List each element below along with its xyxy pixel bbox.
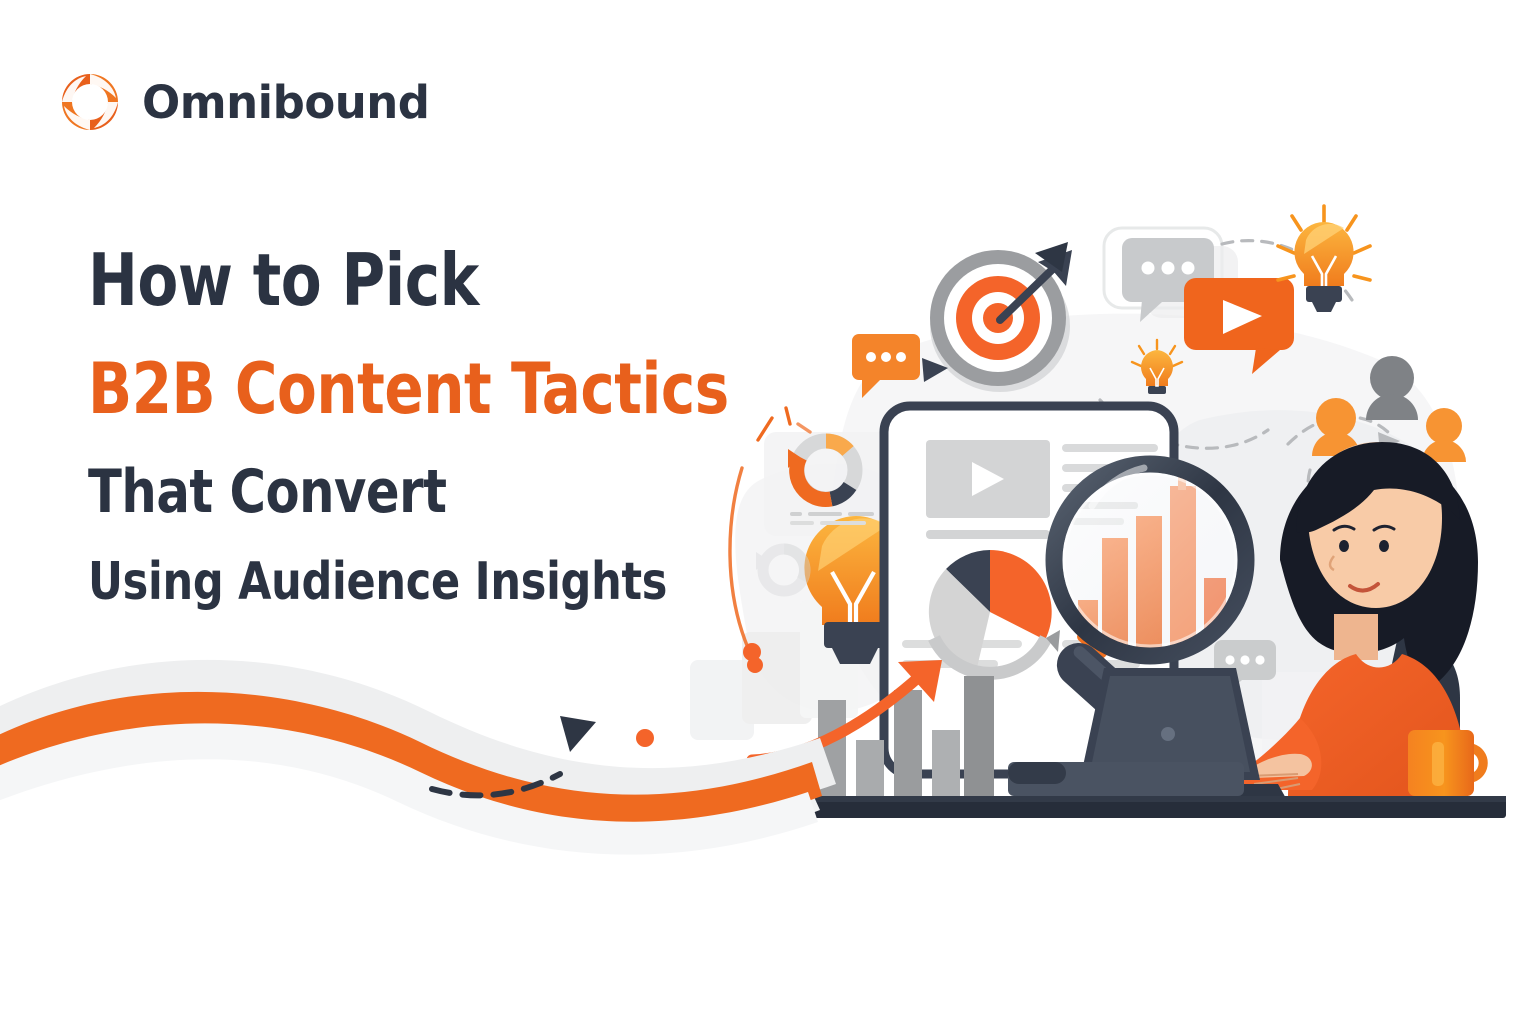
lightbulb-top-icon — [1278, 206, 1370, 312]
dashed-arrow-head — [1378, 432, 1400, 453]
headline-line-3: That Convert — [88, 462, 695, 522]
brand-logo[interactable]: Omnibound — [56, 68, 430, 136]
person-bubble-icon — [1341, 465, 1462, 586]
accent-dot-3 — [747, 657, 763, 673]
chat-bubble-orange-icon — [852, 334, 920, 398]
background-blobs — [735, 314, 1477, 785]
headline-line-1: How to Pick — [88, 244, 695, 316]
lightbulb-large-icon — [804, 516, 907, 664]
play-icon — [972, 462, 1004, 496]
hair-back — [1280, 454, 1478, 686]
magnifier-icon — [1048, 460, 1246, 740]
background-cards — [690, 228, 1348, 780]
chat-bubble-gray-icon — [1122, 238, 1214, 322]
bar-chart-icon — [818, 676, 994, 796]
avatar-orange-left — [1312, 398, 1360, 456]
pie-chart-icon — [929, 550, 1060, 673]
swirl-aperture-icon — [56, 68, 124, 136]
magnified-bar-chart — [1060, 460, 1244, 654]
desk — [776, 762, 1506, 818]
brand-name: Omnibound — [142, 80, 430, 125]
shirt — [1288, 654, 1468, 800]
dashed-arrow — [432, 716, 596, 795]
donut-faint-icon — [756, 549, 805, 591]
orange-wave — [0, 660, 836, 855]
arrow-shaft — [1000, 262, 1060, 320]
network-links — [1297, 492, 1460, 531]
accent-dot-2 — [636, 729, 654, 747]
avatar-gray-top — [1366, 356, 1418, 420]
people-network-icon — [1297, 356, 1466, 531]
lightbulb-small-icon — [1132, 340, 1182, 394]
chat-bubble-small-gray-icon — [1214, 640, 1276, 696]
persona-woman — [1231, 442, 1478, 806]
growth-arrow-icon — [752, 660, 942, 760]
video-thumbnail — [926, 440, 1050, 518]
accent-dot — [743, 643, 761, 661]
avatar-orange-right — [1422, 408, 1466, 462]
face — [1308, 442, 1442, 608]
headline-line-2: B2B Content Tactics — [88, 354, 695, 424]
dashed-connectors — [1100, 241, 1392, 531]
hand — [1248, 754, 1312, 778]
video-play-bubble-icon — [1184, 278, 1294, 374]
chair — [1388, 636, 1460, 806]
coffee-mug — [1408, 730, 1488, 796]
hero-banner: Omnibound How to Pick B2B Content Tactic… — [0, 0, 1536, 1024]
laptop — [1052, 668, 1288, 802]
page-title: How to Pick B2B Content Tactics That Con… — [88, 244, 748, 608]
small-cursor-icon — [922, 358, 948, 382]
donut-chart-icon — [788, 441, 874, 525]
hair-front — [1296, 442, 1460, 533]
target-dartboard-icon — [930, 242, 1072, 392]
headline-line-4: Using Audience Insights — [88, 556, 695, 608]
arrow-fletch — [1038, 250, 1072, 286]
document-panel — [884, 406, 1174, 774]
avatar-gray-mid — [1342, 472, 1382, 520]
